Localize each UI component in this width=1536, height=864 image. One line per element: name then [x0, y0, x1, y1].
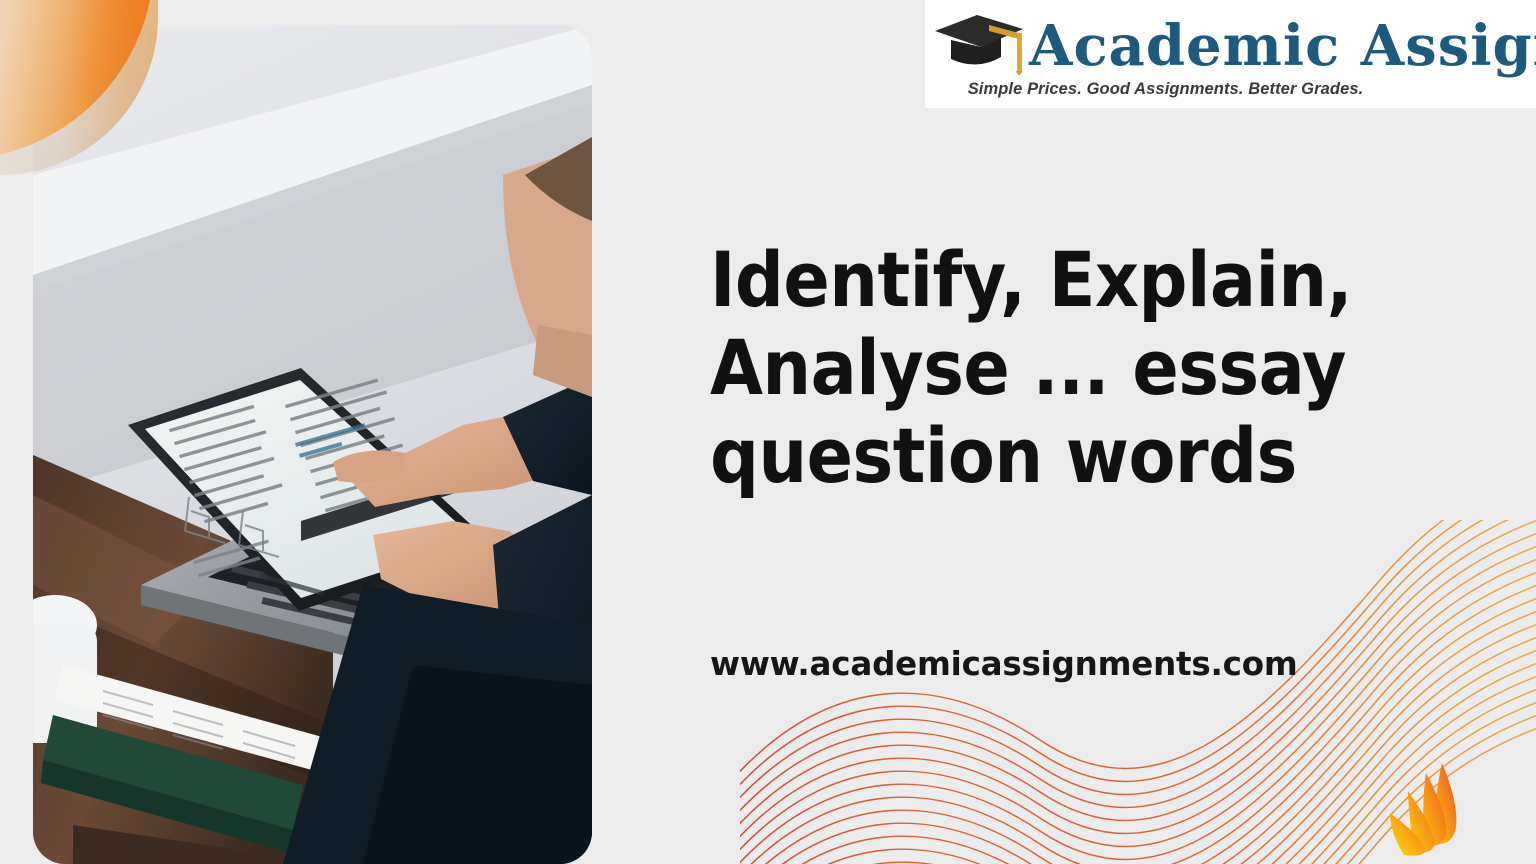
brand-logo[interactable]: Academic Assignments Simple Prices. Good… [925, 0, 1536, 108]
page-title-line-2: Analyse ... essay [710, 324, 1410, 412]
hero-photo [33, 25, 592, 864]
flame-mark-icon [1368, 757, 1472, 861]
brand-logo-row: Academic Assignments [925, 10, 1536, 82]
page-title-line-3: question words [710, 412, 1410, 500]
brand-tagline: Simple Prices. Good Assignments. Better … [925, 80, 1536, 99]
website-url[interactable]: www.academicassignments.com [710, 645, 1298, 683]
hero-photo-illustration [33, 25, 592, 864]
poster-canvas: Academic Assignments Simple Prices. Good… [0, 0, 1536, 864]
page-title-line-1: Identify, Explain, [710, 236, 1410, 324]
brand-name: Academic Assignments [1029, 18, 1536, 74]
page-title: Identify, Explain, Analyse ... essay que… [710, 236, 1410, 500]
graduation-cap-icon [931, 11, 1027, 81]
flame-mark-svg [1368, 757, 1472, 861]
